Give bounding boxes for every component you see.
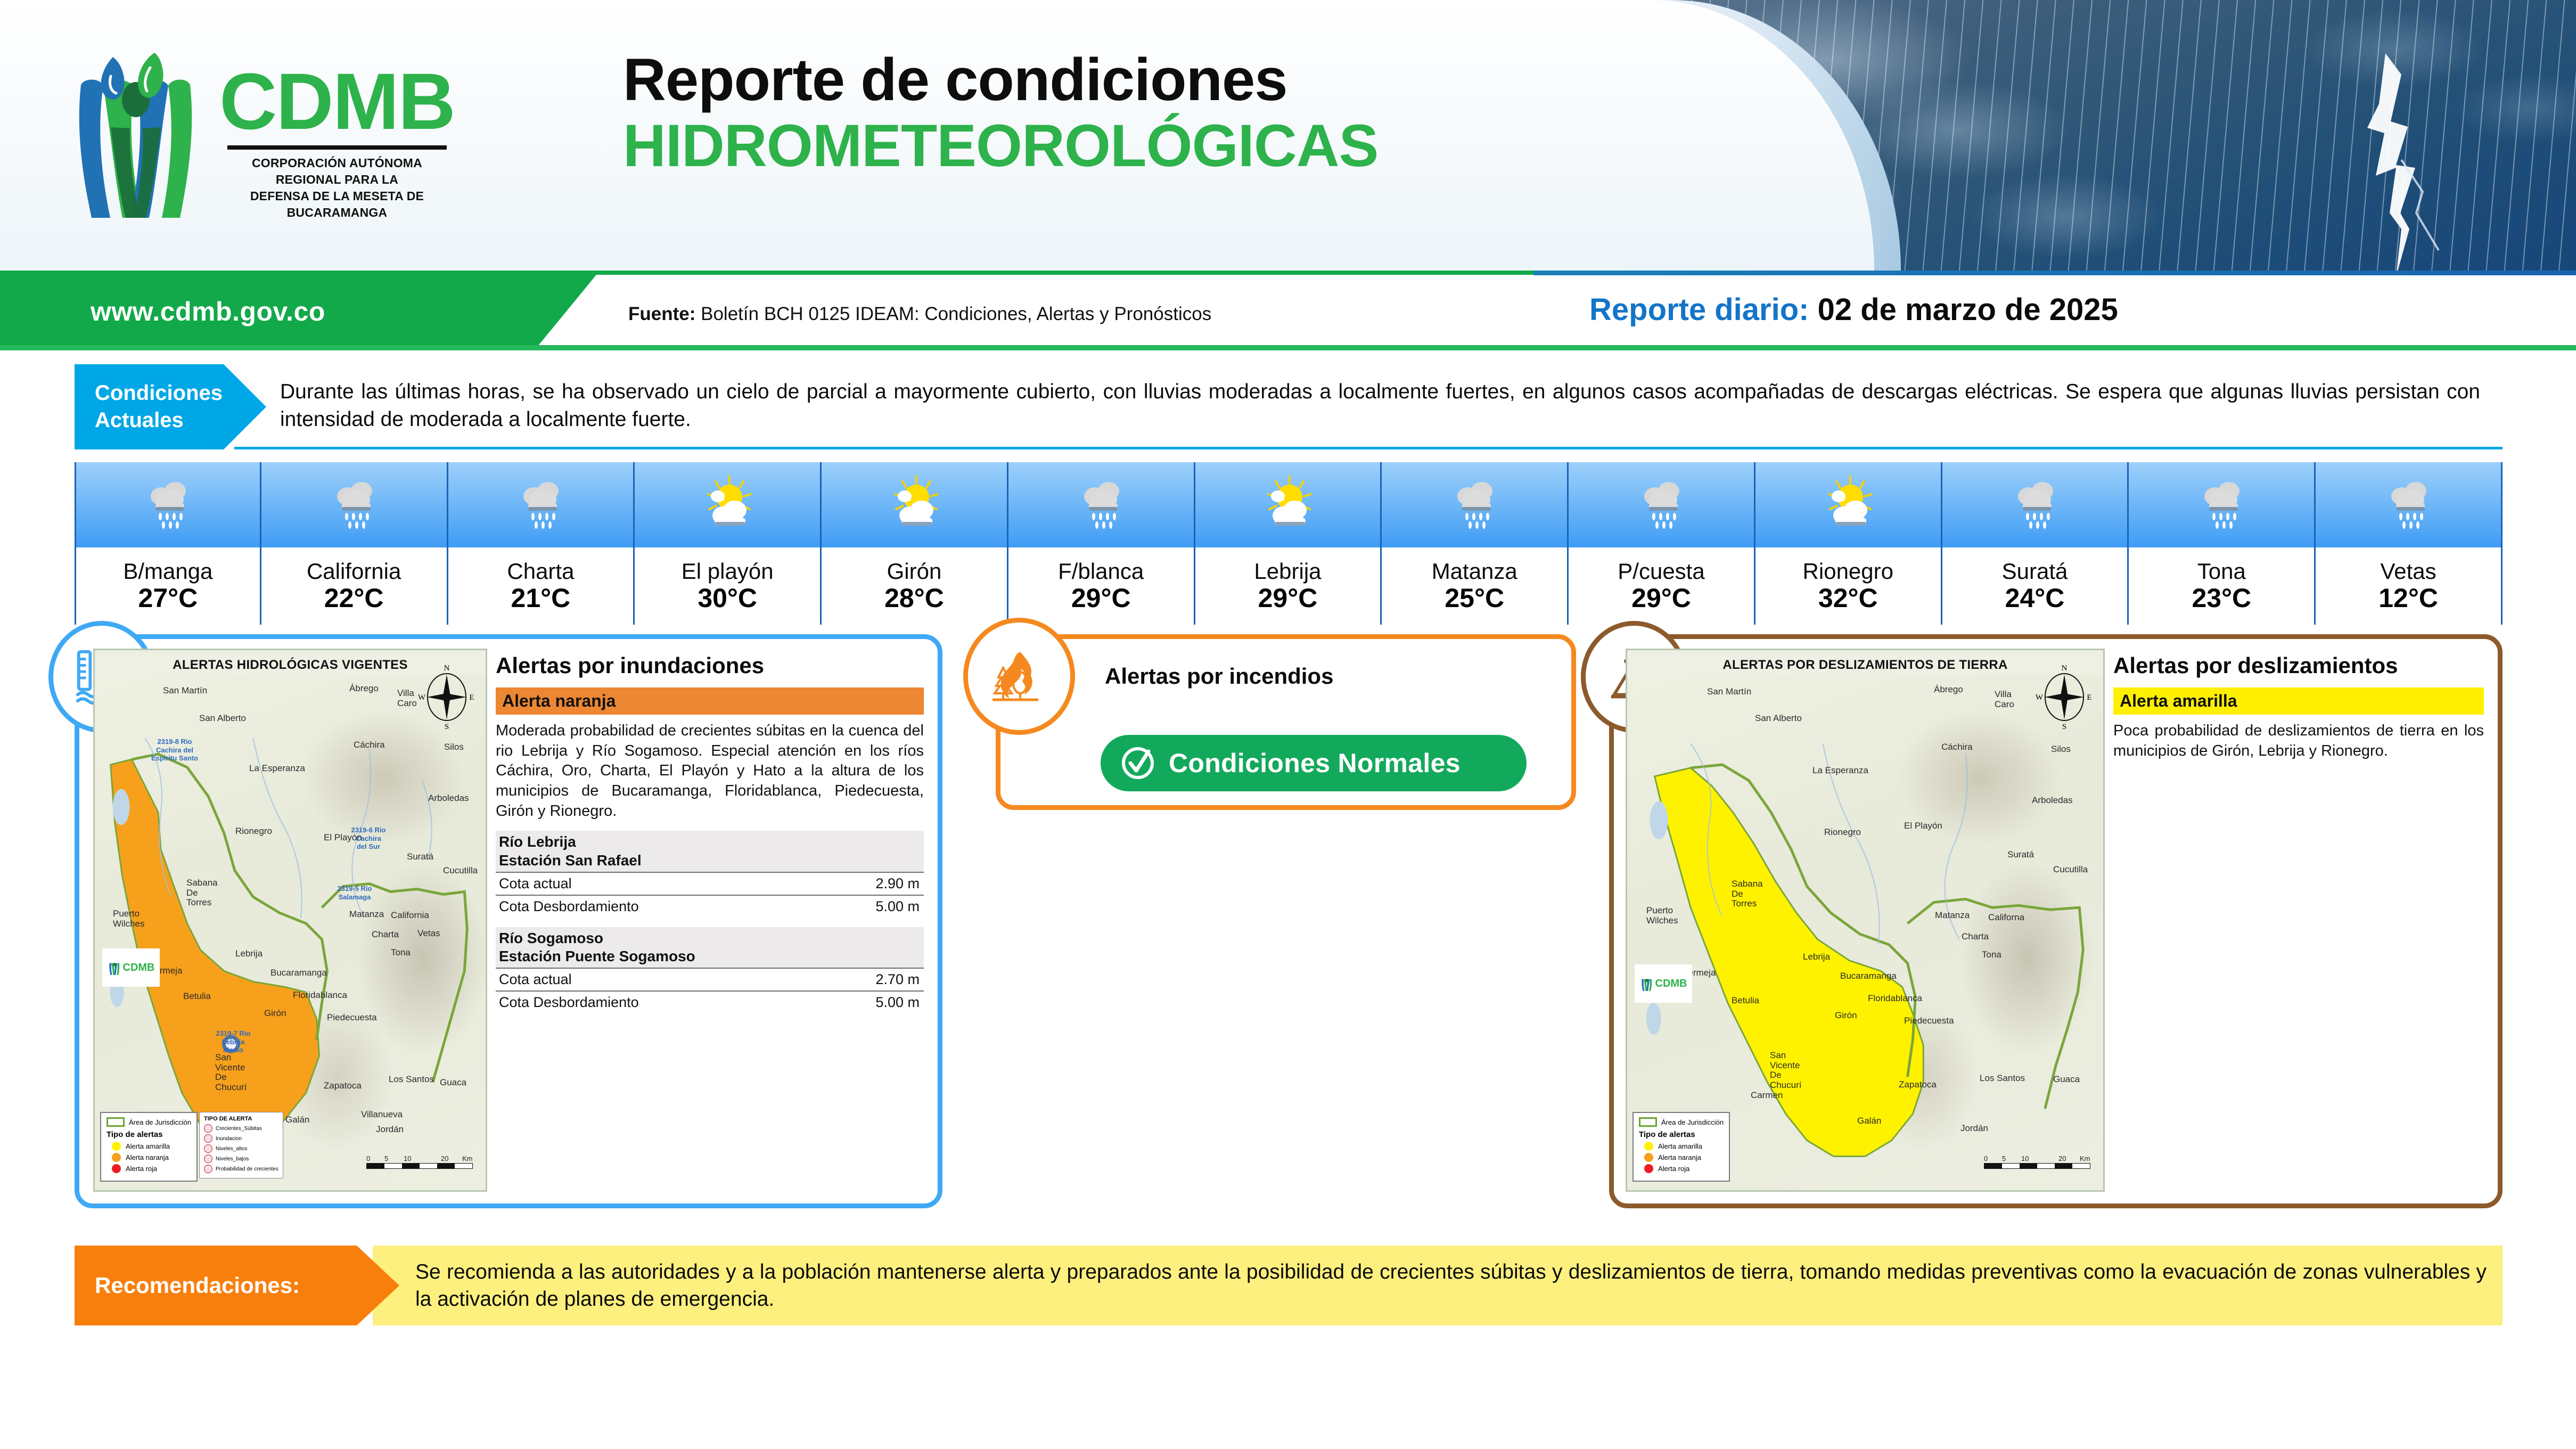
map-place: Suratá [2007, 849, 2034, 860]
scale-tick: 5 [384, 1155, 388, 1163]
weather-label-area: Girón28°C [822, 547, 1008, 625]
weather-icon-area [1755, 462, 1942, 547]
legend-row: Alerta amarilla [112, 1142, 191, 1151]
river-station-header: Río Lebrija Estación San Rafael [496, 831, 924, 871]
logo-acronym: CDMB [219, 61, 455, 141]
river-data-row: Cota Desbordamiento 5.00 m [496, 990, 924, 1013]
legend-row: Alerta naranja [112, 1153, 191, 1162]
fire-status-badge: Condiciones Normales [1101, 735, 1527, 791]
river-row-value: 2.70 m [875, 971, 920, 988]
map-place: Piedecuesta [327, 1012, 377, 1023]
weather-cell-p-cuesta: P/cuesta29°C [1569, 462, 1755, 625]
current-conditions-text: Durante las últimas horas, se ha observa… [280, 378, 2480, 433]
map-place: Villanueva [361, 1109, 403, 1120]
page-title-line2: HIDROMETEOROLÓGICAS [623, 112, 1730, 179]
map-place: Matanza [1935, 910, 1970, 921]
map-place: Ábrego [349, 683, 379, 694]
weather-cell-rionegro: Rionegro32°C [1755, 462, 1942, 625]
weather-icon-area [1569, 462, 1755, 547]
info-bar-bottom-strip [0, 345, 2576, 350]
station-name: Estación San Rafael [499, 852, 921, 870]
map-place: Californa [1988, 912, 2024, 923]
logo-subtitle: CORPORACIÓN AUTÓNOMA REGIONAL PARA LA DE… [223, 155, 452, 221]
weather-cell-california: California22°C [261, 462, 448, 625]
river-name: Río Sogamoso [499, 929, 921, 947]
scale-tick: 0 [366, 1155, 370, 1163]
map-place: Betulia [1732, 995, 1759, 1006]
legend2-row: Inundacion [204, 1134, 278, 1143]
map-place: San Martín [1707, 686, 1751, 697]
weather-temp: 29°C [1071, 584, 1131, 612]
legend-jurisdiction-label: Área de Jurisdicción [129, 1118, 191, 1126]
weather-icon-area [75, 462, 261, 547]
info-bar: www.cdmb.gov.co Fuente: Boletín BCH 0125… [0, 271, 2576, 350]
rain-cloud-icon [2011, 475, 2060, 535]
legend-label: Alerta roja [1658, 1165, 1689, 1173]
scale-numbers: 0 5 10 20 Km [366, 1155, 473, 1163]
weather-temp: 23°C [2192, 584, 2251, 612]
map-place: Bucaramanga [270, 968, 327, 978]
map-place: Arboledas [428, 793, 469, 804]
legend-label: Alerta roja [126, 1165, 157, 1173]
map-place: Betulia [183, 991, 211, 1002]
map-river-label: 2319-5 Rio Salamaga [335, 885, 374, 901]
legend2-row: Niveles_altos [204, 1144, 278, 1153]
scale-bar [1984, 1163, 2090, 1169]
legend2-label: Inundacion [216, 1136, 242, 1142]
landslide-alerts-panel: ALERTAS POR DESLIZAMIENTOS DE TIERRA [1609, 634, 2503, 1208]
legend-label: Alerta amarilla [126, 1142, 170, 1150]
flood-alert-level-badge: Alerta naranja [496, 687, 924, 715]
map-logo-mark-icon [108, 959, 121, 977]
weather-city: El playón [682, 560, 774, 583]
weather-label-area: Suratá24°C [1942, 547, 2129, 625]
scale-bar [366, 1163, 473, 1169]
logo-subtitle-line1: CORPORACIÓN AUTÓNOMA REGIONAL PARA LA [252, 156, 422, 186]
map-place: San Vicente De Chucurí [1770, 1051, 1810, 1091]
map-place: Zapatoca [324, 1080, 362, 1091]
river-row-value: 2.90 m [875, 875, 920, 892]
map-place: San Alberto [1755, 713, 1802, 724]
landslide-alert-body: Poca probabilidad de deslizamientos de t… [2113, 721, 2484, 761]
report-date-value: 02 de marzo de 2025 [1818, 292, 2118, 327]
info-bar-blue-strip [1533, 271, 2576, 275]
map-place: Girón [1835, 1010, 1857, 1021]
legend-row: Alerta naranja [1644, 1153, 1724, 1162]
fire-forest-glyph [987, 644, 1051, 708]
legend-dot-red [112, 1164, 121, 1173]
legend-dot-yellow [1644, 1142, 1653, 1151]
weather-cell-el-play-n: El playón30°C [635, 462, 822, 625]
rain-cloud-icon [2384, 475, 2433, 535]
landslide-alert-text-column: Alertas por deslizamientos Alerta amaril… [2105, 639, 2498, 1204]
legend-title: Tipo de alertas [106, 1130, 191, 1139]
recommendations-tag-label: Recomendaciones: [95, 1273, 300, 1298]
legend2-label: Niveles_bajos [216, 1156, 249, 1162]
rain-cloud-icon [516, 475, 565, 535]
flood-alerts-panel: ALERTAS HIDROLÓGICAS VIGENTES [75, 634, 942, 1208]
weather-label-area: Matanza25°C [1382, 547, 1569, 625]
weather-icon-area [1382, 462, 1569, 547]
weather-city: Vetas [2381, 560, 2436, 583]
weather-label-area: Charta21°C [448, 547, 635, 625]
scale-tick: 20 [441, 1155, 448, 1163]
weather-temp: 22°C [324, 584, 384, 612]
map-place: Arboledas [2032, 795, 2073, 806]
legend-jurisdiction-swatch [1639, 1117, 1657, 1127]
map-place: Puerto Wilches [1646, 906, 1676, 926]
svg-text:E: E [469, 693, 474, 702]
weather-temp: 30°C [698, 584, 757, 612]
source-text: Boletín BCH 0125 IDEAM: Condiciones, Ale… [701, 304, 1211, 324]
rain-cloud-icon [143, 475, 192, 535]
map-place: California [391, 910, 429, 921]
landslide-map-title: ALERTAS POR DESLIZAMIENTOS DE TIERRA [1627, 658, 2103, 673]
river-data-row: Cota actual 2.70 m [496, 968, 924, 990]
alert-type-icon [204, 1144, 212, 1153]
weather-label-area: California22°C [261, 547, 448, 625]
weather-temp: 12°C [2378, 584, 2438, 612]
map-place: Galán [285, 1115, 309, 1125]
map-logo-acronym: CDMB [123, 962, 155, 974]
report-date: Reporte diario: 02 de marzo de 2025 [1589, 292, 2118, 328]
map-place: Matanza [349, 909, 384, 920]
weather-icon-area [1008, 462, 1195, 547]
map-place: Zapatoca [1899, 1079, 1937, 1090]
recommendations-box: Se recomienda a las autoridades y a la p… [373, 1246, 2503, 1325]
current-conditions-box: Durante las últimas horas, se ha observa… [234, 364, 2503, 449]
legend-dot-red [1644, 1164, 1653, 1173]
weather-city: Matanza [1432, 560, 1517, 583]
map-place: Tona [391, 947, 411, 958]
weather-city: Lebrija [1254, 560, 1321, 583]
weather-cell-lebrija: Lebrija29°C [1195, 462, 1382, 625]
map-place: Floridablanca [293, 990, 347, 1001]
map-place: Puerto Wilches [113, 909, 142, 929]
map-place: Cáchira [354, 740, 385, 750]
flood-map-legend: Área de Jurisdicción Tipo de alertas Ale… [100, 1112, 198, 1182]
rain-cloud-icon [1637, 475, 1686, 535]
map-place: Charta [372, 929, 399, 940]
weather-city: Charta [507, 560, 574, 583]
weather-label-area: Tona23°C [2129, 547, 2316, 625]
current-conditions-tag-line2: Actuales [95, 407, 266, 434]
river-row-label: Cota actual [499, 971, 572, 988]
landslide-map-scale-bar: 0 5 10 20 Km [1984, 1155, 2090, 1169]
recommendations-tag: Recomendaciones: [75, 1246, 399, 1325]
flood-alert-body: Moderada probabilidad de crecientes súbi… [496, 721, 924, 821]
legend-dot-orange [112, 1153, 121, 1162]
legend-dot-orange [1644, 1153, 1653, 1162]
legend-jurisdiction-label: Área de Jurisdicción [1661, 1118, 1724, 1126]
alert-panels-row: ALERTAS HIDROLÓGICAS VIGENTES [75, 634, 2503, 1236]
source-line: Fuente: Boletín BCH 0125 IDEAM: Condicio… [628, 304, 1211, 325]
sun-cloud-icon [1260, 475, 1315, 535]
map-place: Silos [444, 742, 464, 752]
map-place: Bucaramanga [1840, 971, 1897, 981]
fire-forest-icon [963, 618, 1075, 735]
river-station-header: Río Sogamoso Estación Puente Sogamoso [496, 927, 924, 968]
weather-cell-vetas: Vetas12°C [2316, 462, 2503, 625]
rain-cloud-icon [2197, 475, 2246, 535]
map-place: San Vicente De Chucurí [215, 1053, 252, 1093]
weather-label-area: Lebrija29°C [1195, 547, 1382, 625]
map-place: Sabana De Torres [1732, 879, 1767, 909]
legend2-row: Niveles_bajos [204, 1155, 278, 1163]
river-station-block: Río Sogamoso Estación Puente Sogamoso Co… [496, 927, 924, 1013]
map-place: Carmen [1751, 1090, 1783, 1101]
weather-cell-surat-: Suratá24°C [1942, 462, 2129, 625]
svg-text:S: S [445, 723, 449, 730]
recommendations-section: Se recomienda a las autoridades y a la p… [75, 1246, 2503, 1325]
map-place: El Playón [1904, 821, 1942, 831]
fire-alerts-panel: Alertas por incendios Condiciones Normal… [996, 634, 1576, 810]
landslide-map[interactable]: ALERTAS POR DESLIZAMIENTOS DE TIERRA [1626, 649, 2105, 1192]
river-row-label: Cota actual [499, 875, 572, 892]
river-row-label: Cota Desbordamiento [499, 898, 639, 915]
logo-divider [227, 145, 447, 150]
weather-cell-charta: Charta21°C [448, 462, 635, 625]
cdmb-logo-mark-icon [60, 47, 214, 223]
weather-temp: 32°C [1818, 584, 1878, 612]
weather-icon-area [448, 462, 635, 547]
weather-city: California [307, 560, 401, 583]
scale-tick: 10 [2021, 1155, 2029, 1163]
scale-tick: 10 [404, 1155, 411, 1163]
current-conditions-section: Durante las últimas horas, se ha observa… [75, 364, 2503, 449]
website-url[interactable]: www.cdmb.gov.co [91, 296, 325, 327]
legend-dot-yellow [112, 1142, 121, 1151]
recommendations-text: Se recomienda a las autoridades y a la p… [415, 1258, 2487, 1313]
station-name: Estación Puente Sogamoso [499, 947, 921, 965]
map-place: Rionegro [1824, 827, 1861, 838]
sun-cloud-icon [700, 475, 755, 535]
map-place: La Esperanza [249, 763, 305, 774]
flood-map-scale-bar: 0 5 10 20 Km [366, 1155, 473, 1169]
map-place: San Martín [163, 685, 207, 696]
legend-row: Alerta roja [1644, 1164, 1724, 1173]
map-place: Suratá [407, 852, 433, 862]
map-place: Cucutilla [2053, 864, 2088, 875]
alert-type-icon [204, 1155, 212, 1163]
sun-cloud-icon [887, 475, 942, 535]
flood-alert-text-column: Alertas por inundaciones Alerta naranja … [487, 639, 938, 1204]
flood-map-title: ALERTAS HIDROLÓGICAS VIGENTES [95, 658, 486, 673]
weather-temp: 29°C [1258, 584, 1318, 612]
landslide-alert-level-badge: Alerta amarilla [2113, 687, 2484, 715]
logo-subtitle-line2: DEFENSA DE LA MESETA DE BUCARAMANGA [250, 189, 424, 219]
scale-tick: 20 [2058, 1155, 2066, 1163]
weather-label-area: B/manga27°C [75, 547, 261, 625]
scale-unit: Km [462, 1155, 473, 1163]
fire-heading: Alertas por incendios [1105, 664, 1333, 689]
map-place: Silos [2051, 744, 2071, 755]
legend2-label: Niveles_altos [216, 1146, 247, 1152]
svg-text:S: S [2062, 723, 2066, 730]
cdmb-logo: CDMB CORPORACIÓN AUTÓNOMA REGIONAL PARA … [60, 39, 603, 231]
rain-cloud-icon [1077, 475, 1126, 535]
map-place: Floridablanca [1868, 993, 1922, 1004]
weather-cell-gir-n: Girón28°C [822, 462, 1008, 625]
map-place: Sabana De Torres [186, 878, 220, 908]
weather-label-area: F/blanca29°C [1008, 547, 1195, 625]
weather-label-area: Rionegro32°C [1755, 547, 1942, 625]
weather-label-area: P/cuesta29°C [1569, 547, 1755, 625]
map-place: Tona [1982, 949, 2001, 960]
legend2-label: Crecientes_Súbitas [216, 1126, 262, 1132]
scale-numbers: 0 5 10 20 Km [1984, 1155, 2090, 1163]
current-conditions-tag-line1: Condiciones [95, 380, 266, 407]
landslide-map-legend: Área de Jurisdicción Tipo de alertas Ale… [1632, 1112, 1730, 1182]
legend2-label: Probabilidad de crecientes [216, 1166, 278, 1172]
weather-temp: 27°C [138, 584, 198, 612]
flood-heading: Alertas por inundaciones [496, 653, 924, 678]
map-place: Jordán [376, 1124, 404, 1135]
svg-text:E: E [2087, 693, 2091, 702]
report-date-label: Reporte diario: [1589, 292, 1809, 327]
flood-map-legend-alert-types: TIPO DE ALERTA Crecientes_Súbitas Inunda… [199, 1112, 283, 1178]
weather-city: Suratá [2002, 560, 2068, 583]
map-place: Los Santos [1980, 1073, 2025, 1084]
map-place: Girón [264, 1008, 286, 1019]
map-place: Cáchira [1941, 742, 1973, 752]
weather-cell-tona: Tona23°C [2129, 462, 2316, 625]
rain-cloud-icon [1450, 475, 1499, 535]
map-place: Villa Caro [397, 689, 422, 708]
page-title-line1: Reporte de condiciones [623, 48, 1730, 112]
flood-map[interactable]: ALERTAS HIDROLÓGICAS VIGENTES [93, 649, 487, 1192]
legend-label: Alerta amarilla [1658, 1142, 1702, 1150]
legend-label: Alerta naranja [126, 1153, 169, 1161]
sun-cloud-icon [1820, 475, 1876, 535]
weather-city: P/cuesta [1618, 560, 1704, 583]
river-row-label: Cota Desbordamiento [499, 994, 639, 1011]
legend2-row: Crecientes_Súbitas [204, 1124, 278, 1133]
river-name: Río Lebrija [499, 833, 921, 851]
map-place: Villa Caro [1995, 690, 2020, 709]
source-label: Fuente: [628, 304, 695, 324]
weather-icon-area [2316, 462, 2503, 547]
map-place: Galán [1857, 1116, 1881, 1126]
legend2-title: TIPO DE ALERTA [204, 1116, 278, 1122]
map-place: Charta [1962, 931, 1989, 942]
weather-cell-b-manga: B/manga27°C [75, 462, 261, 625]
legend-jurisdiction-row: Área de Jurisdicción [1639, 1117, 1724, 1127]
map-place: Jordán [1960, 1123, 1988, 1134]
map-place: Piedecuesta [1904, 1016, 1954, 1026]
legend2-row: Probabilidad de crecientes [204, 1165, 278, 1173]
map-river-label: 2319-8 Rio Cachira del Espiritu Santo [150, 738, 199, 763]
map-place: Lebrija [235, 948, 262, 959]
map-place: Vetas [417, 928, 440, 939]
scale-tick: 5 [2002, 1155, 2006, 1163]
legend-row: Alerta amarilla [1644, 1142, 1724, 1151]
weather-icon-area [261, 462, 448, 547]
svg-text:W: W [2036, 693, 2044, 702]
weather-cell-f-blanca: F/blanca29°C [1008, 462, 1195, 625]
weather-city: B/manga [123, 560, 212, 583]
page-header: CDMB CORPORACIÓN AUTÓNOMA REGIONAL PARA … [0, 0, 2576, 271]
alert-type-icon [204, 1165, 212, 1173]
weather-temp: 25°C [1445, 584, 1504, 612]
legend-row: Alerta roja [112, 1164, 191, 1173]
legend-jurisdiction-row: Área de Jurisdicción [106, 1117, 191, 1127]
landslide-heading: Alertas por deslizamientos [2113, 653, 2484, 678]
river-data-row: Cota actual 2.90 m [496, 872, 924, 895]
map-river-label: 2319-7 Rio Lebrija Medio [214, 1029, 252, 1054]
river-row-value: 5.00 m [875, 994, 920, 1011]
weather-city: Girón [887, 560, 942, 583]
weather-temp: 21°C [511, 584, 571, 612]
page-title: Reporte de condiciones HIDROMETEOROLÓGIC… [623, 48, 1730, 179]
river-station-block: Río Lebrija Estación San Rafael Cota act… [496, 831, 924, 917]
map-place: Ábrego [1934, 684, 1963, 695]
weather-icon-area [635, 462, 822, 547]
river-data-row: Cota Desbordamiento 5.00 m [496, 895, 924, 918]
map-cdmb-logo: CDMB [1635, 964, 1692, 1003]
weather-label-area: Vetas12°C [2316, 547, 2503, 625]
alert-type-icon [204, 1124, 212, 1133]
weather-icon-area [2129, 462, 2316, 547]
weather-temp: 24°C [2005, 584, 2065, 612]
map-place: Los Santos [389, 1074, 434, 1085]
map-place: Guaca [440, 1077, 466, 1088]
map-logo-acronym: CDMB [1655, 978, 1687, 990]
weather-icon-area [1942, 462, 2129, 547]
weather-temp: 29°C [1631, 584, 1691, 612]
weather-city: F/blanca [1058, 560, 1144, 583]
map-place: La Esperanza [1812, 765, 1868, 776]
weather-icon-area [1195, 462, 1382, 547]
weather-city: Tona [2197, 560, 2246, 583]
weather-label-area: El playón30°C [635, 547, 822, 625]
map-place: Guaca [2053, 1074, 2080, 1085]
check-circle-icon [1119, 744, 1157, 782]
map-place: Lebrija [1803, 952, 1830, 962]
map-cdmb-logo: CDMB [102, 948, 160, 987]
map-place: Rionegro [235, 826, 272, 837]
river-row-value: 5.00 m [875, 898, 920, 915]
weather-strip: B/manga27°C California22°C Charta21°C El… [75, 462, 2503, 625]
map-place: Cucutilla [443, 865, 478, 876]
alert-type-icon [204, 1134, 212, 1143]
weather-icon-area [822, 462, 1008, 547]
weather-cell-matanza: Matanza25°C [1382, 462, 1569, 625]
scale-tick: 0 [1984, 1155, 1988, 1163]
fire-status-label: Condiciones Normales [1169, 748, 1461, 779]
weather-city: Rionegro [1803, 560, 1893, 583]
map-place: San Alberto [199, 713, 246, 724]
legend-jurisdiction-swatch [106, 1117, 125, 1127]
lightning-bolt-icon [2316, 53, 2460, 271]
weather-temp: 28°C [884, 584, 944, 612]
legend-title: Tipo de alertas [1639, 1130, 1724, 1139]
map-logo-mark-icon [1640, 975, 1654, 993]
rain-cloud-icon [330, 475, 379, 535]
map-river-label: 2319-6 Rio Cachira del Sur [348, 826, 389, 851]
legend-label: Alerta naranja [1658, 1153, 1701, 1161]
scale-unit: Km [2080, 1155, 2090, 1163]
